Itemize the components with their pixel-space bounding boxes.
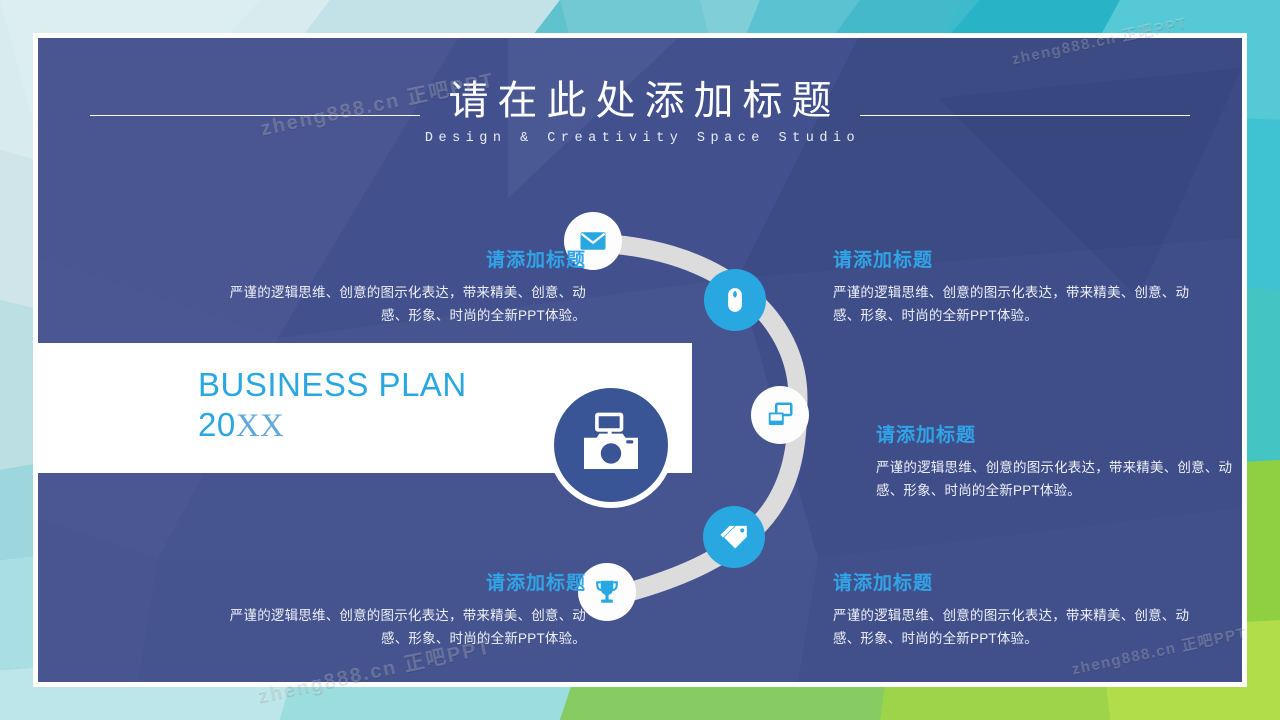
node-camera[interactable] — [548, 382, 674, 508]
block-heading: 请添加标题 — [876, 420, 1242, 447]
node-mouse[interactable] — [704, 269, 766, 331]
brand-year-prefix: 20 — [198, 406, 236, 443]
windows-icon — [765, 400, 795, 430]
mouse-icon — [720, 285, 750, 315]
text-block-bottom-left: 请添加标题 严谨的逻辑思维、创意的图示化表达，带来精美、创意、动感、形象、时尚的… — [226, 568, 586, 650]
brand-lockup: BUSINESS PLAN 20XX — [198, 368, 467, 444]
brand-year-suffix: XX — [236, 408, 285, 444]
block-body: 严谨的逻辑思维、创意的图示化表达，带来精美、创意、动感、形象、时尚的全新PPT体… — [226, 604, 586, 650]
brand-title: BUSINESS PLAN — [198, 368, 467, 403]
block-body: 严谨的逻辑思维、创意的图示化表达，带来精美、创意、动感、形象、时尚的全新PPT体… — [833, 281, 1205, 327]
block-heading: 请添加标题 — [833, 245, 1205, 272]
slide-canvas: 请在此处添加标题 Design & Creativity Space Studi… — [0, 0, 1280, 720]
camera-icon — [575, 409, 647, 481]
brand-year: 20XX — [198, 408, 467, 444]
block-heading: 请添加标题 — [226, 245, 586, 272]
block-body: 严谨的逻辑思维、创意的图示化表达，带来精美、创意、动感、形象、时尚的全新PPT体… — [876, 456, 1242, 502]
block-body: 严谨的逻辑思维、创意的图示化表达，带来精美、创意、动感、形象、时尚的全新PPT体… — [226, 281, 586, 327]
block-heading: 请添加标题 — [226, 568, 586, 595]
trophy-icon — [592, 577, 622, 607]
page-subtitle: Design & Creativity Space Studio — [38, 131, 1242, 146]
content-panel: 请在此处添加标题 Design & Creativity Space Studi… — [38, 38, 1242, 682]
text-block-top-right: 请添加标题 严谨的逻辑思维、创意的图示化表达，带来精美、创意、动感、形象、时尚的… — [833, 245, 1205, 327]
text-block-bottom-right: 请添加标题 严谨的逻辑思维、创意的图示化表达，带来精美、创意、动感、形象、时尚的… — [833, 568, 1205, 650]
node-trophy[interactable] — [578, 563, 636, 621]
slide-frame: 请在此处添加标题 Design & Creativity Space Studi… — [33, 33, 1247, 687]
node-windows[interactable] — [751, 386, 809, 444]
block-heading: 请添加标题 — [833, 568, 1205, 595]
header: 请在此处添加标题 Design & Creativity Space Studi… — [38, 78, 1242, 146]
tags-icon — [719, 522, 750, 553]
text-block-top-left: 请添加标题 严谨的逻辑思维、创意的图示化表达，带来精美、创意、动感、形象、时尚的… — [226, 245, 586, 327]
node-tags[interactable] — [703, 506, 765, 568]
block-body: 严谨的逻辑思维、创意的图示化表达，带来精美、创意、动感、形象、时尚的全新PPT体… — [833, 604, 1205, 650]
text-block-middle-right: 请添加标题 严谨的逻辑思维、创意的图示化表达，带来精美、创意、动感、形象、时尚的… — [876, 420, 1242, 502]
page-title: 请在此处添加标题 — [38, 78, 1242, 124]
